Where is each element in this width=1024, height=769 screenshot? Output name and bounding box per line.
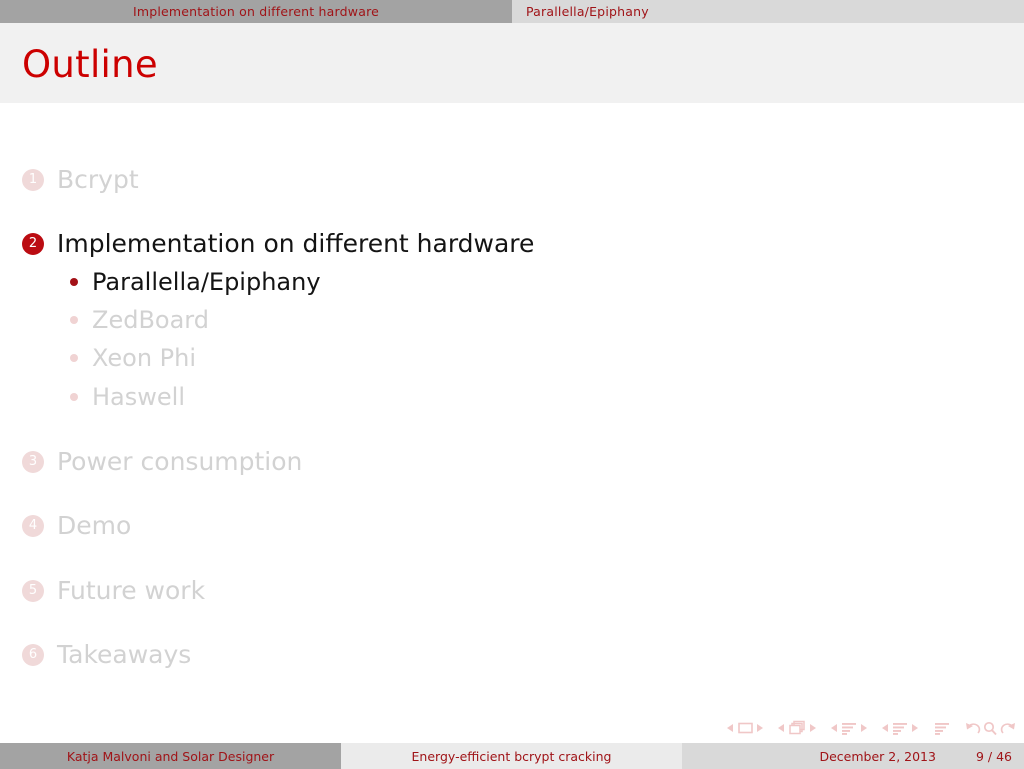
outline-subitem[interactable]: Parallella/Epiphany	[70, 268, 321, 296]
frame-forward-icon[interactable]	[808, 722, 817, 734]
footer-date: December 2, 2013	[819, 749, 936, 764]
bullet-icon	[70, 354, 78, 362]
outline-list: 1Bcrypt2Implementation on different hard…	[0, 103, 1024, 703]
outline-item-badge: 3	[22, 451, 44, 473]
page-title: Outline	[22, 43, 158, 86]
outline-item-1[interactable]: 1Bcrypt	[22, 165, 139, 194]
bullet-icon	[70, 316, 78, 324]
slide-icon[interactable]	[735, 721, 755, 735]
outline-subitem-label: Xeon Phi	[92, 344, 196, 372]
beamer-navigation-symbols	[726, 718, 1016, 738]
header-section-label[interactable]: Implementation on different hardware	[0, 0, 512, 23]
slide-navigation-group	[726, 721, 764, 735]
bullet-icon	[70, 393, 78, 401]
outline-item-label: Implementation on different hardware	[57, 229, 534, 258]
footer-title: Energy-efficient bcrypt cracking	[341, 743, 682, 769]
outline-item-3[interactable]: 3Power consumption	[22, 447, 302, 476]
outline-item-label: Power consumption	[57, 447, 302, 476]
outline-item-badge: 2	[22, 233, 44, 255]
document-navigation-group	[965, 721, 1016, 736]
presentation-icon[interactable]	[932, 721, 952, 736]
outline-item-label: Future work	[57, 576, 205, 605]
section-icon[interactable]	[890, 721, 910, 736]
outline-item-label: Bcrypt	[57, 165, 139, 194]
frame-title-band: Outline	[0, 23, 1024, 103]
outline-item-2[interactable]: 2Implementation on different hardware	[22, 229, 534, 258]
subsection-forward-icon[interactable]	[859, 722, 868, 734]
outline-subitem-label: Parallella/Epiphany	[92, 268, 321, 296]
search-icon[interactable]	[982, 721, 999, 736]
outline-item-badge: 1	[22, 169, 44, 191]
frame-backward-icon[interactable]	[777, 722, 786, 734]
slide-forward-icon[interactable]	[755, 722, 764, 734]
back-icon[interactable]	[965, 721, 982, 736]
subsection-backward-icon[interactable]	[830, 722, 839, 734]
section-forward-icon[interactable]	[910, 722, 919, 734]
header-subsection-label[interactable]: Parallella/Epiphany	[512, 0, 1024, 23]
subsection-navigation-group	[830, 721, 868, 736]
header-navigation-bar: Implementation on different hardware Par…	[0, 0, 1024, 23]
presentation-navigation-group	[932, 721, 952, 736]
outline-item-badge: 4	[22, 515, 44, 537]
slide-backward-icon[interactable]	[726, 722, 735, 734]
footer-author: Katja Malvoni and Solar Designer	[0, 743, 341, 769]
outline-item-badge: 6	[22, 644, 44, 666]
outline-subitem[interactable]: Xeon Phi	[70, 344, 196, 372]
frame-icon[interactable]	[786, 720, 808, 736]
subsection-icon[interactable]	[839, 721, 859, 736]
section-navigation-group	[881, 721, 919, 736]
section-backward-icon[interactable]	[881, 722, 890, 734]
bullet-icon	[70, 278, 78, 286]
footer-meta: December 2, 2013 9 / 46	[682, 743, 1024, 769]
outline-subitem[interactable]: Haswell	[70, 383, 185, 411]
outline-item-label: Demo	[57, 511, 131, 540]
outline-subitem[interactable]: ZedBoard	[70, 306, 209, 334]
outline-subitem-label: ZedBoard	[92, 306, 209, 334]
outline-item-4[interactable]: 4Demo	[22, 511, 131, 540]
outline-item-badge: 5	[22, 580, 44, 602]
footer-bar: Katja Malvoni and Solar Designer Energy-…	[0, 743, 1024, 769]
outline-item-label: Takeaways	[57, 640, 191, 669]
footer-page-number: 9 / 46	[976, 749, 1012, 764]
frame-navigation-group	[777, 720, 817, 736]
forward-icon[interactable]	[999, 721, 1016, 736]
outline-subitem-label: Haswell	[92, 383, 185, 411]
outline-item-5[interactable]: 5Future work	[22, 576, 205, 605]
outline-item-6[interactable]: 6Takeaways	[22, 640, 191, 669]
